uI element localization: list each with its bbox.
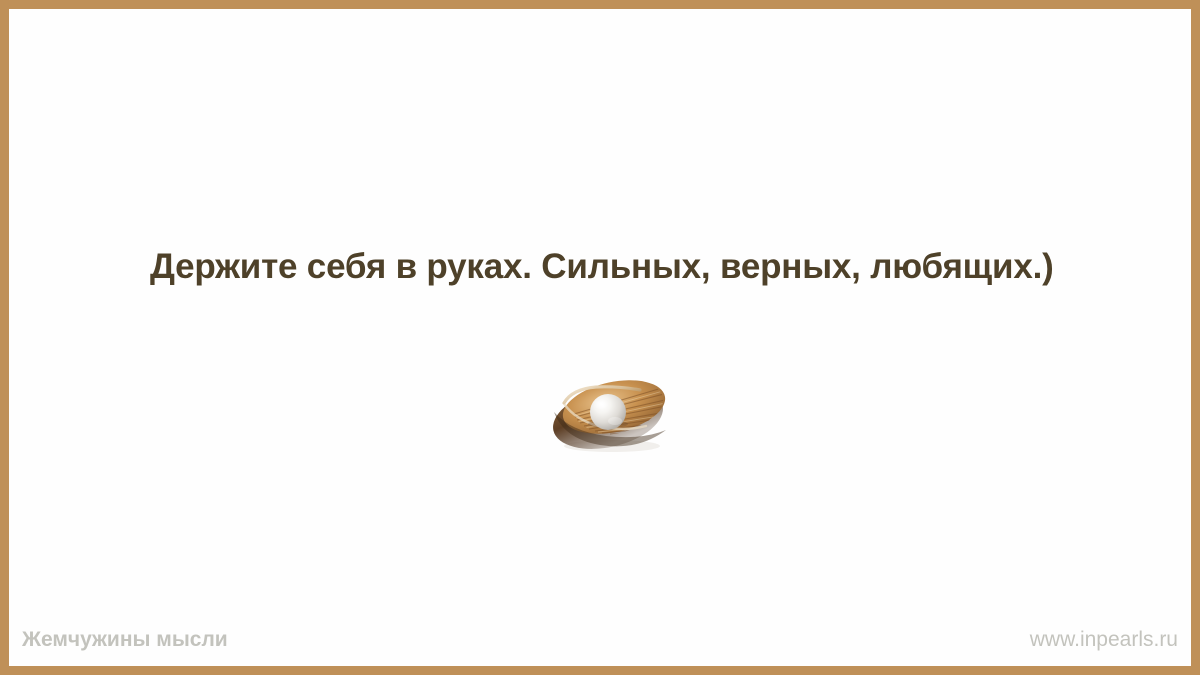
- pearl-in-shell-icon: [542, 374, 678, 454]
- card-canvas: Держите себя в руках. Сильных, верных, л…: [9, 9, 1191, 666]
- quote-text: Держите себя в руках. Сильных, верных, л…: [150, 246, 1080, 287]
- quote-card: Держите себя в руках. Сильных, верных, л…: [0, 0, 1200, 675]
- footer: Жемчужины мысли www.inpearls.ru: [9, 606, 1191, 666]
- site-url-label[interactable]: www.inpearls.ru: [1030, 628, 1178, 652]
- pearl-in-shell-illustration: [542, 374, 678, 454]
- brand-label: Жемчужины мысли: [22, 628, 228, 652]
